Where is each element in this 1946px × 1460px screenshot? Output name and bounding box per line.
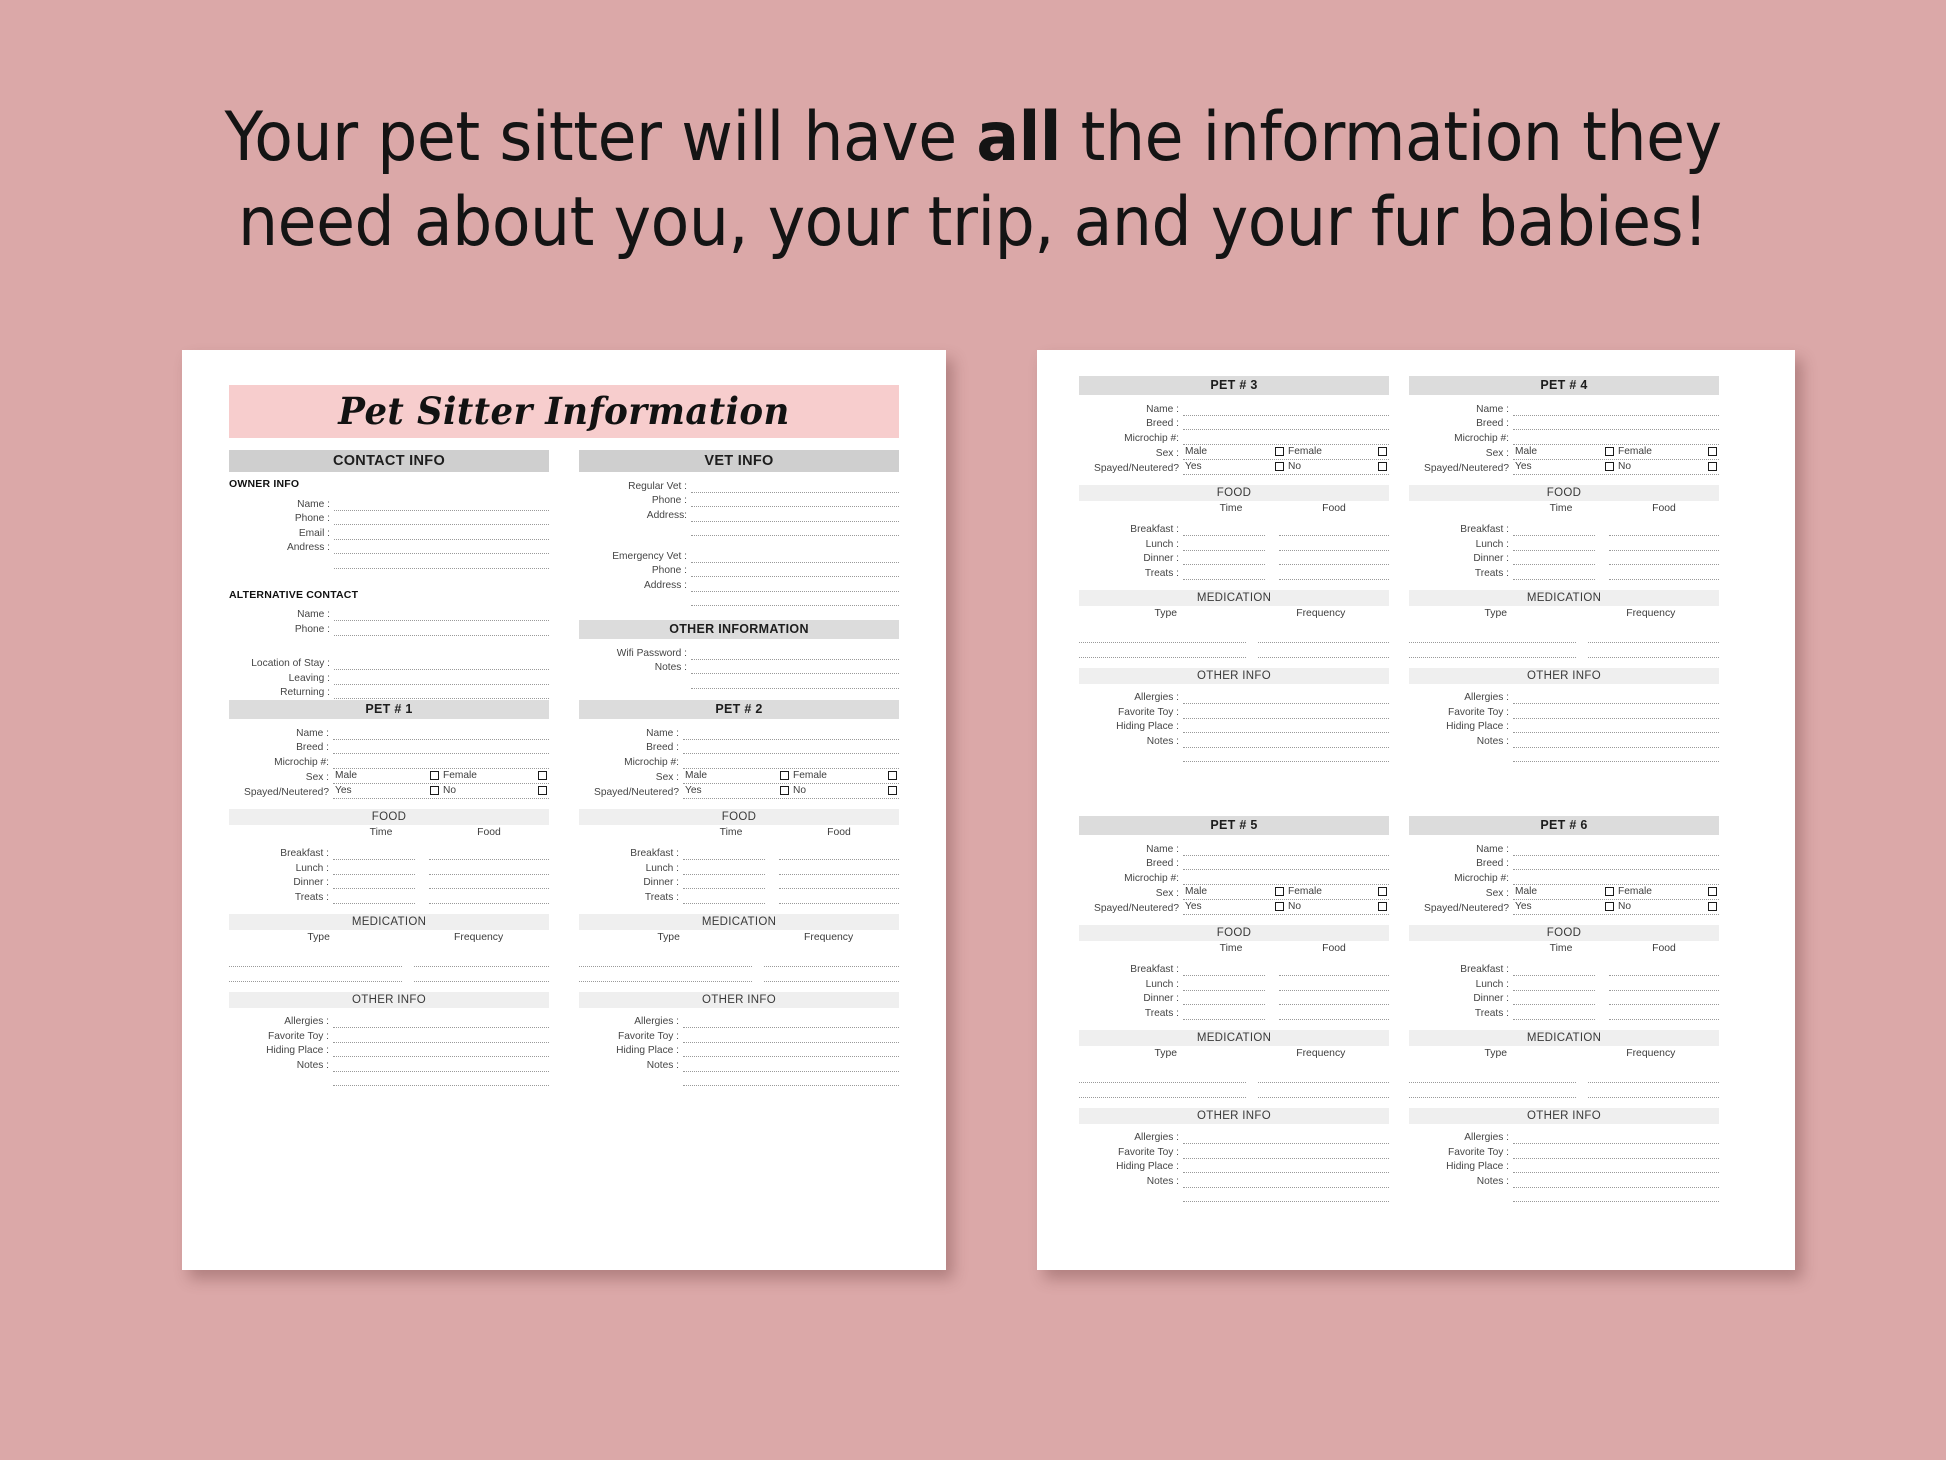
- option-label: Male: [1515, 446, 1537, 457]
- medication-frequency-input-2[interactable]: [1258, 1086, 1389, 1098]
- field-row: Favorite Toy :: [229, 1028, 549, 1043]
- medication-type-input-1[interactable]: [1079, 631, 1246, 643]
- field-row: Microchip #:: [1409, 870, 1719, 885]
- field-row: Name :: [229, 725, 549, 740]
- column-header-time: Time: [1513, 943, 1609, 954]
- field-row: [229, 554, 549, 569]
- field-label: Favorite Toy :: [1079, 1147, 1183, 1159]
- field-row: [579, 592, 899, 607]
- emergency-vet-address-input-line2[interactable]: [691, 594, 899, 606]
- allergies-input[interactable]: [1183, 1132, 1389, 1144]
- pet-block-4: PET # 4Name :Breed :Microchip #:Sex :Mal…: [1409, 376, 1719, 762]
- field-row: Allergies :: [1409, 690, 1719, 705]
- food-row: Dinner :: [1079, 551, 1389, 566]
- field-row: Favorite Toy :: [1409, 1144, 1719, 1159]
- field-row: Name :: [1409, 401, 1719, 416]
- field-row: Hiding Place :: [1079, 1159, 1389, 1174]
- medication-frequency-input-1[interactable]: [1258, 1071, 1389, 1083]
- column-header-time: Time: [1183, 943, 1279, 954]
- favorite-toy-input[interactable]: [333, 1031, 549, 1043]
- medication-type-input-1[interactable]: [1079, 1071, 1246, 1083]
- field-row: Breed :: [1079, 416, 1389, 431]
- sex-female-checkbox[interactable]: [1378, 887, 1387, 896]
- field-label: Microchip #:: [579, 757, 683, 769]
- field-row: Name :: [1409, 841, 1719, 856]
- spayed-yes-checkbox[interactable]: [1605, 462, 1614, 471]
- regular-vet-phone-input[interactable]: [691, 495, 899, 507]
- medication-frequency-input-1[interactable]: [1588, 1071, 1719, 1083]
- field-label: Notes :: [229, 1060, 333, 1072]
- field-label: Phone :: [229, 624, 334, 636]
- lunch-time-input[interactable]: [1513, 979, 1595, 991]
- printable-page-1: Pet Sitter Information CONTACT INFO OWNE…: [182, 350, 946, 1270]
- breakfast-food-input[interactable]: [1279, 524, 1389, 536]
- option-label: Female: [1618, 886, 1652, 897]
- lunch-food-input[interactable]: [1279, 539, 1389, 551]
- column-header-food: Food: [1609, 943, 1719, 954]
- headline-line1-pre: Your pet sitter will have: [224, 98, 976, 177]
- wifi-password-input[interactable]: [691, 648, 899, 660]
- field-row: Notes :: [579, 660, 899, 675]
- column-header-frequency: Frequency: [1583, 1048, 1719, 1059]
- field-label: Sex :: [579, 772, 683, 784]
- sex-male-checkbox[interactable]: [1275, 887, 1284, 896]
- owner-info-subheader: OWNER INFO: [229, 478, 549, 490]
- lunch-time-input[interactable]: [1183, 539, 1265, 551]
- lunch-food-input[interactable]: [779, 863, 899, 875]
- medication-frequency-input-2[interactable]: [414, 970, 549, 982]
- notes-input-line2[interactable]: [1183, 1190, 1389, 1202]
- column-header-time: Time: [333, 827, 429, 838]
- pet-breed-input[interactable]: [333, 742, 549, 754]
- hiding-place-input[interactable]: [1183, 1161, 1389, 1173]
- option-label: Yes: [1185, 901, 1202, 912]
- column-header-type: Type: [1409, 608, 1583, 619]
- field-label: Hiding Place :: [1409, 1161, 1513, 1173]
- field-row: Returning :: [229, 685, 549, 700]
- medication-header: MEDICATION: [229, 914, 549, 930]
- food-row: Breakfast :: [1409, 522, 1719, 537]
- regular-vet-input[interactable]: [691, 481, 899, 493]
- dinner-food-input[interactable]: [1279, 553, 1389, 565]
- allergies-input[interactable]: [1513, 692, 1719, 704]
- breakfast-food-input[interactable]: [779, 848, 899, 860]
- field-label: Favorite Toy :: [1409, 707, 1513, 719]
- spayed-no-checkbox[interactable]: [1378, 902, 1387, 911]
- field-label: Lunch :: [1409, 979, 1513, 991]
- pet-breed-input[interactable]: [1183, 418, 1389, 430]
- food-header: FOOD: [579, 809, 899, 825]
- medication-row: [1409, 1069, 1719, 1084]
- sex-female-checkbox[interactable]: [1378, 447, 1387, 456]
- pet-title: PET # 5: [1079, 816, 1389, 835]
- owner-address-input-line2[interactable]: [334, 557, 549, 569]
- field-label: Lunch :: [229, 863, 333, 875]
- food-row: Lunch :: [229, 860, 549, 875]
- field-label: Name :: [229, 609, 334, 621]
- treats-time-input[interactable]: [1183, 568, 1265, 580]
- treats-time-input[interactable]: [333, 892, 415, 904]
- pet-name-input[interactable]: [1183, 404, 1389, 416]
- notes-input-line2[interactable]: [683, 1074, 899, 1086]
- sex-male-checkbox[interactable]: [430, 771, 439, 780]
- pet-breed-input[interactable]: [1183, 858, 1389, 870]
- notes-input-line2[interactable]: [1513, 1190, 1719, 1202]
- medication-row: [579, 967, 899, 982]
- notes-input-line2[interactable]: [1183, 750, 1389, 762]
- allergies-input[interactable]: [1513, 1132, 1719, 1144]
- spayed-no-checkbox[interactable]: [538, 786, 547, 795]
- breakfast-food-input[interactable]: [1609, 524, 1719, 536]
- favorite-toy-input[interactable]: [1183, 1147, 1389, 1159]
- lunch-time-input[interactable]: [1183, 979, 1265, 991]
- column-header-type: Type: [229, 932, 408, 943]
- favorite-toy-input[interactable]: [683, 1031, 899, 1043]
- spayed-no-checkbox[interactable]: [1378, 462, 1387, 471]
- field-label: Microchip #:: [1409, 433, 1513, 445]
- column-header-time: Time: [683, 827, 779, 838]
- field-row: Notes :: [1409, 1173, 1719, 1188]
- dinner-time-input[interactable]: [1183, 993, 1265, 1005]
- field-row: Allergies :: [579, 1014, 899, 1029]
- medication-row: [229, 967, 549, 982]
- medication-type-input-2[interactable]: [1079, 646, 1246, 658]
- sex-female-checkbox[interactable]: [538, 771, 547, 780]
- spayed-yes-checkbox[interactable]: [1275, 902, 1284, 911]
- emergency-vet-input[interactable]: [691, 551, 899, 563]
- owner-email-input[interactable]: [334, 528, 549, 540]
- field-label: Breakfast :: [1409, 964, 1513, 976]
- medication-frequency-input-2[interactable]: [764, 970, 899, 982]
- option-label: Yes: [1515, 461, 1532, 472]
- treats-time-input[interactable]: [1513, 568, 1595, 580]
- pet-microchip-input[interactable]: [333, 757, 549, 769]
- column-header-food: Food: [1279, 503, 1389, 514]
- pet-breed-input[interactable]: [1513, 418, 1719, 430]
- pet-microchip-input[interactable]: [1513, 873, 1719, 885]
- field-row: Phone :: [579, 493, 899, 508]
- spayed-yes-checkbox[interactable]: [1605, 902, 1614, 911]
- medication-type-input-2[interactable]: [1079, 1086, 1246, 1098]
- sex-male-checkbox[interactable]: [1605, 887, 1614, 896]
- field-label: Name :: [1079, 404, 1183, 416]
- alt-phone-input[interactable]: [334, 624, 549, 636]
- sex-female-checkbox[interactable]: [1708, 887, 1717, 896]
- field-row: Name :: [1079, 841, 1389, 856]
- field-row: [579, 1072, 899, 1087]
- pet-microchip-input[interactable]: [1513, 433, 1719, 445]
- breakfast-food-input[interactable]: [429, 848, 549, 860]
- spayed-yes-checkbox[interactable]: [430, 786, 439, 795]
- notes-input[interactable]: [1183, 736, 1389, 748]
- field-label: Sex :: [1079, 448, 1183, 460]
- column-header-frequency: Frequency: [1253, 1048, 1389, 1059]
- medication-type-input-1[interactable]: [1409, 631, 1576, 643]
- notes-input[interactable]: [1513, 736, 1719, 748]
- allergies-input[interactable]: [333, 1016, 549, 1028]
- field-row: Hiding Place :: [1409, 1159, 1719, 1174]
- option-label: Female: [793, 770, 827, 781]
- dinner-food-input[interactable]: [1609, 553, 1719, 565]
- food-row: Treats :: [1079, 565, 1389, 580]
- field-label: Microchip #:: [1079, 433, 1183, 445]
- field-label: Dinner :: [229, 877, 333, 889]
- medication-frequency-input-2[interactable]: [1588, 1086, 1719, 1098]
- food-row: Dinner :: [1409, 551, 1719, 566]
- treats-food-input[interactable]: [429, 892, 549, 904]
- breakfast-time-input[interactable]: [1183, 964, 1265, 976]
- hiding-place-input[interactable]: [1513, 1161, 1719, 1173]
- dinner-food-input[interactable]: [779, 877, 899, 889]
- alt-name-input[interactable]: [334, 609, 549, 621]
- column-header-food: Food: [779, 827, 899, 838]
- dinner-time-input[interactable]: [1183, 553, 1265, 565]
- favorite-toy-input[interactable]: [1513, 1147, 1719, 1159]
- column-header-frequency: Frequency: [1253, 608, 1389, 619]
- owner-phone-input[interactable]: [334, 513, 549, 525]
- field-row: Regular Vet :: [579, 478, 899, 493]
- allergies-input[interactable]: [683, 1016, 899, 1028]
- treats-time-input[interactable]: [683, 892, 765, 904]
- food-header: FOOD: [1409, 925, 1719, 941]
- field-row: Allergies :: [1079, 690, 1389, 705]
- food-row: Lunch :: [1079, 976, 1389, 991]
- medication-frequency-input-1[interactable]: [1588, 631, 1719, 643]
- field-label: Breed :: [229, 742, 333, 754]
- other-info-header: OTHER INFO: [229, 992, 549, 1008]
- treats-time-input[interactable]: [1183, 1008, 1265, 1020]
- medication-type-input-2[interactable]: [579, 970, 752, 982]
- regular-vet-address-input[interactable]: [691, 510, 899, 522]
- headline-line2: need about you, your trip, and your fur …: [68, 187, 1878, 258]
- treats-time-input[interactable]: [1513, 1008, 1595, 1020]
- field-label: Lunch :: [579, 863, 683, 875]
- field-label: Leaving :: [229, 673, 334, 685]
- option-label: Female: [1288, 886, 1322, 897]
- field-row: Phone :: [579, 563, 899, 578]
- spayed-no-checkbox[interactable]: [1708, 462, 1717, 471]
- pet-name-input[interactable]: [333, 728, 549, 740]
- pet-name-input[interactable]: [1513, 404, 1719, 416]
- notes-input[interactable]: [1513, 1176, 1719, 1188]
- sex-row: Sex :MaleFemale: [1079, 885, 1389, 900]
- allergies-input[interactable]: [1183, 692, 1389, 704]
- medication-frequency-input-1[interactable]: [414, 955, 549, 967]
- field-row: Notes :: [229, 1057, 549, 1072]
- medication-header: MEDICATION: [579, 914, 899, 930]
- spayed-no-checkbox[interactable]: [888, 786, 897, 795]
- treats-food-input[interactable]: [1609, 568, 1719, 580]
- field-label: Address :: [579, 580, 691, 592]
- field-row: Favorite Toy :: [579, 1028, 899, 1043]
- emergency-vet-address-input[interactable]: [691, 580, 899, 592]
- spayed-neutered-row: Spayed/Neutered?YesNo: [1409, 460, 1719, 475]
- spayed-no-checkbox[interactable]: [1708, 902, 1717, 911]
- pet-breed-input[interactable]: [1513, 858, 1719, 870]
- food-row: Dinner :: [1079, 991, 1389, 1006]
- field-row: Address :: [579, 577, 899, 592]
- field-label: Favorite Toy :: [1079, 707, 1183, 719]
- notes-input[interactable]: [333, 1060, 549, 1072]
- owner-name-input[interactable]: [334, 499, 549, 511]
- field-row: Leaving :: [229, 670, 549, 685]
- breakfast-food-input[interactable]: [1279, 964, 1389, 976]
- hiding-place-input[interactable]: [1183, 721, 1389, 733]
- option-label: Yes: [1515, 901, 1532, 912]
- option-label: Female: [1288, 446, 1322, 457]
- breakfast-time-input[interactable]: [1513, 964, 1595, 976]
- spayed-neutered-row: Spayed/Neutered?YesNo: [1079, 900, 1389, 915]
- notes-input-line2[interactable]: [333, 1074, 549, 1086]
- medication-header: MEDICATION: [1409, 590, 1719, 606]
- hiding-place-input[interactable]: [683, 1045, 899, 1057]
- field-label: Email :: [229, 528, 334, 540]
- breakfast-time-input[interactable]: [1183, 524, 1265, 536]
- pet-name-input[interactable]: [683, 728, 899, 740]
- notes-input-line2[interactable]: [691, 677, 899, 689]
- vet-info-column: VET INFO Regular Vet : Phone : Address: …: [579, 450, 899, 703]
- option-label: Male: [1515, 886, 1537, 897]
- medication-row: [1409, 1083, 1719, 1098]
- notes-input[interactable]: [683, 1060, 899, 1072]
- field-label: Breed :: [1079, 418, 1183, 430]
- owner-address-input[interactable]: [334, 542, 549, 554]
- option-label: No: [1288, 901, 1301, 912]
- column-header-type: Type: [579, 932, 758, 943]
- field-label: Spayed/Neutered?: [1079, 463, 1183, 475]
- notes-input[interactable]: [1183, 1176, 1389, 1188]
- field-row: Hiding Place :: [1079, 719, 1389, 734]
- medication-header: MEDICATION: [1409, 1030, 1719, 1046]
- breakfast-time-input[interactable]: [683, 848, 765, 860]
- lunch-food-input[interactable]: [1609, 979, 1719, 991]
- sex-female-checkbox[interactable]: [1708, 447, 1717, 456]
- column-header-time: Time: [1513, 503, 1609, 514]
- notes-input[interactable]: [691, 662, 899, 674]
- lunch-time-input[interactable]: [1513, 539, 1595, 551]
- spayed-yes-checkbox[interactable]: [1275, 462, 1284, 471]
- field-row: Notes :: [1409, 733, 1719, 748]
- option-label: No: [793, 785, 806, 796]
- sex-female-checkbox[interactable]: [888, 771, 897, 780]
- pet-title: PET # 2: [579, 700, 899, 719]
- spayed-yes-checkbox[interactable]: [780, 786, 789, 795]
- column-header-food: Food: [429, 827, 549, 838]
- column-header-time: Time: [1183, 503, 1279, 514]
- sex-male-checkbox[interactable]: [780, 771, 789, 780]
- lunch-time-input[interactable]: [683, 863, 765, 875]
- favorite-toy-input[interactable]: [1183, 707, 1389, 719]
- leaving-input[interactable]: [334, 673, 549, 685]
- field-label: Allergies :: [1079, 1132, 1183, 1144]
- breakfast-food-input[interactable]: [1609, 964, 1719, 976]
- dinner-food-input[interactable]: [429, 877, 549, 889]
- medication-type-input-1[interactable]: [579, 955, 752, 967]
- lunch-food-input[interactable]: [1609, 539, 1719, 551]
- pet-title: PET # 1: [229, 700, 549, 719]
- dinner-time-input[interactable]: [1513, 993, 1595, 1005]
- field-label: Sex :: [229, 772, 333, 784]
- lunch-food-input[interactable]: [429, 863, 549, 875]
- field-label: Spayed/Neutered?: [1409, 463, 1513, 475]
- field-row: Phone :: [229, 621, 549, 636]
- pet-block-6: PET # 6Name :Breed :Microchip #:Sex :Mal…: [1409, 816, 1719, 1202]
- returning-input[interactable]: [334, 687, 549, 699]
- pet-microchip-input[interactable]: [1183, 433, 1389, 445]
- medication-frequency-input-2[interactable]: [1588, 646, 1719, 658]
- regular-vet-address-input-line2[interactable]: [691, 524, 899, 536]
- pet-microchip-input[interactable]: [1183, 873, 1389, 885]
- breakfast-time-input[interactable]: [333, 848, 415, 860]
- medication-frequency-input-2[interactable]: [1258, 646, 1389, 658]
- treats-food-input[interactable]: [779, 892, 899, 904]
- food-row: Lunch :: [1409, 976, 1719, 991]
- location-of-stay-input[interactable]: [334, 658, 549, 670]
- field-label: Hiding Place :: [1079, 721, 1183, 733]
- hiding-place-input[interactable]: [1513, 721, 1719, 733]
- medication-type-input-2[interactable]: [1409, 646, 1576, 658]
- field-label: Name :: [1409, 844, 1513, 856]
- treats-food-input[interactable]: [1279, 568, 1389, 580]
- dinner-food-input[interactable]: [1279, 993, 1389, 1005]
- field-label: Breed :: [1409, 858, 1513, 870]
- alternative-contact-subheader: ALTERNATIVE CONTACT: [229, 589, 549, 601]
- breakfast-time-input[interactable]: [1513, 524, 1595, 536]
- field-label: Notes :: [579, 1060, 683, 1072]
- treats-food-input[interactable]: [1609, 1008, 1719, 1020]
- field-row: Microchip #:: [1409, 430, 1719, 445]
- field-label: Breakfast :: [1079, 964, 1183, 976]
- treats-food-input[interactable]: [1279, 1008, 1389, 1020]
- field-label: Hiding Place :: [229, 1045, 333, 1057]
- page-headline: Your pet sitter will have all the inform…: [68, 102, 1878, 259]
- medication-type-input-2[interactable]: [1409, 1086, 1576, 1098]
- field-label: Breed :: [1409, 418, 1513, 430]
- lunch-food-input[interactable]: [1279, 979, 1389, 991]
- medication-frequency-input-1[interactable]: [1258, 631, 1389, 643]
- field-label: Dinner :: [1409, 553, 1513, 565]
- column-header-frequency: Frequency: [408, 932, 549, 943]
- pet-breed-input[interactable]: [683, 742, 899, 754]
- field-label: Favorite Toy :: [229, 1031, 333, 1043]
- medication-type-input-1[interactable]: [229, 955, 402, 967]
- medication-type-input-2[interactable]: [229, 970, 402, 982]
- field-label: Name :: [229, 728, 333, 740]
- field-label: Spayed/Neutered?: [1409, 903, 1513, 915]
- notes-input-line2[interactable]: [1513, 750, 1719, 762]
- food-header: FOOD: [229, 809, 549, 825]
- dinner-time-input[interactable]: [333, 877, 415, 889]
- pet-name-input[interactable]: [1513, 844, 1719, 856]
- medication-type-input-1[interactable]: [1409, 1071, 1576, 1083]
- sex-male-checkbox[interactable]: [1275, 447, 1284, 456]
- favorite-toy-input[interactable]: [1513, 707, 1719, 719]
- emergency-vet-phone-input[interactable]: [691, 565, 899, 577]
- pet-name-input[interactable]: [1183, 844, 1389, 856]
- sex-male-checkbox[interactable]: [1605, 447, 1614, 456]
- hiding-place-input[interactable]: [333, 1045, 549, 1057]
- medication-frequency-input-1[interactable]: [764, 955, 899, 967]
- dinner-time-input[interactable]: [1513, 553, 1595, 565]
- pet-microchip-input[interactable]: [683, 757, 899, 769]
- lunch-time-input[interactable]: [333, 863, 415, 875]
- dinner-food-input[interactable]: [1609, 993, 1719, 1005]
- dinner-time-input[interactable]: [683, 877, 765, 889]
- field-row: Hiding Place :: [229, 1043, 549, 1058]
- food-header: FOOD: [1079, 485, 1389, 501]
- food-header: FOOD: [1409, 485, 1719, 501]
- field-row: Name :: [1079, 401, 1389, 416]
